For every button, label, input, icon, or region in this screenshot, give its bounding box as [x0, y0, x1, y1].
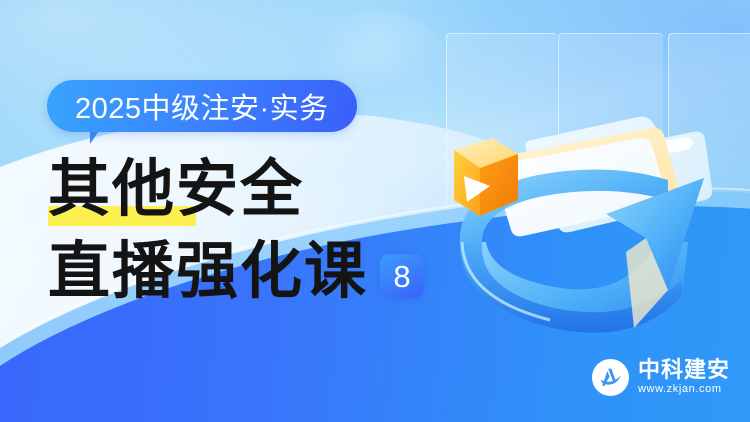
- topic-badge[interactable]: 2025中级注安·实务: [47, 80, 357, 132]
- topic-badge-label: 2025中级注安·实务: [75, 85, 329, 127]
- headline-block: 其他安全 直播强化课 8: [48, 150, 424, 304]
- zkjan-logo-icon: [592, 359, 629, 396]
- brand-url: www.zkjan.com: [638, 382, 730, 396]
- episode-number-label: 8: [393, 261, 410, 292]
- course-illustration: [420, 92, 720, 342]
- brand-name: 中科建安: [638, 358, 730, 382]
- brand-text-block: 中科建安 www.zkjan.com: [638, 358, 730, 396]
- headline-row-secondary: 直播强化课 8: [48, 232, 424, 304]
- course-promo-banner: 2025中级注安·实务 其他安全 直播强化课 8 中科建安 www: [0, 0, 750, 422]
- headline-row-primary: 其他安全: [48, 150, 424, 222]
- brand-logo[interactable]: 中科建安 www.zkjan.com: [592, 358, 730, 396]
- headline-line-1: 其他安全: [48, 158, 304, 222]
- headline-line-2: 直播强化课: [48, 240, 368, 304]
- episode-number-badge: 8: [380, 254, 424, 298]
